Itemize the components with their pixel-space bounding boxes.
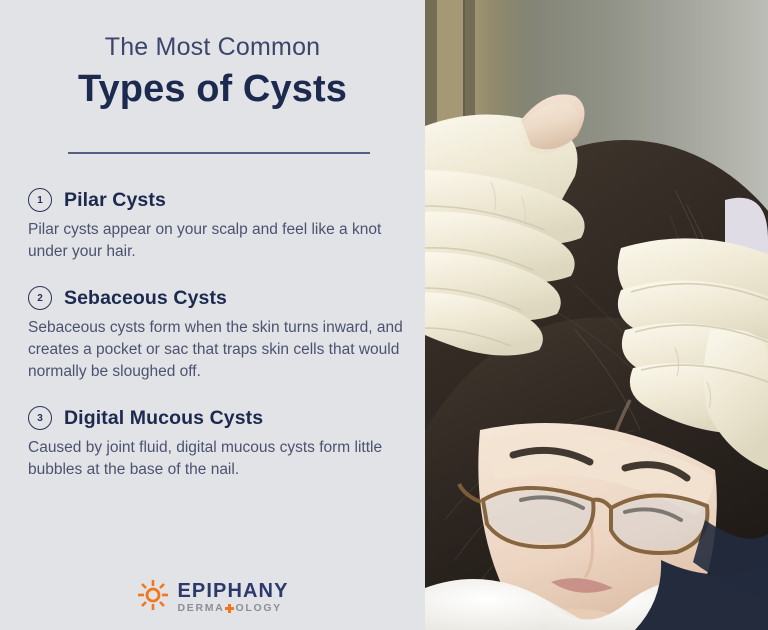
list-item-body: Pilar cysts appear on your scalp and fee… xyxy=(28,219,406,263)
list-item-title: Sebaceous Cysts xyxy=(64,287,227,310)
page-title-block: The Most Common Types of Cysts xyxy=(0,32,425,112)
list-item-header: 2 Sebaceous Cysts xyxy=(28,286,416,310)
list-item-number-badge: 3 xyxy=(28,406,52,430)
list-item-title: Pilar Cysts xyxy=(64,189,166,212)
list-item-body: Sebaceous cysts form when the skin turns… xyxy=(28,317,406,383)
logo-specialty-suffix: OLOGY xyxy=(235,603,281,614)
clinical-photo xyxy=(425,0,768,630)
logo-specialty: DERMA OLOGY xyxy=(177,603,288,614)
logo-brand-name: EPIPHANY xyxy=(177,581,288,601)
list-item-number-badge: 2 xyxy=(28,286,52,310)
brand-logo: EPIPHANY DERMA OLOGY xyxy=(0,579,425,616)
list-item-title: Digital Mucous Cysts xyxy=(64,407,263,430)
list-item: 1 Pilar Cysts Pilar cysts appear on your… xyxy=(28,188,416,263)
title-kicker: The Most Common xyxy=(0,32,425,62)
infographic-canvas: The Most Common Types of Cysts 1 Pilar C… xyxy=(0,0,768,630)
logo-specialty-prefix: DERMA xyxy=(177,603,224,614)
title-divider xyxy=(68,152,370,154)
list-item: 3 Digital Mucous Cysts Caused by joint f… xyxy=(28,406,416,481)
medical-cross-icon xyxy=(225,604,234,613)
logo-wordmark: EPIPHANY DERMA OLOGY xyxy=(177,581,288,614)
page-title: Types of Cysts xyxy=(0,68,425,112)
list-item: 2 Sebaceous Cysts Sebaceous cysts form w… xyxy=(28,286,416,383)
sun-icon xyxy=(136,579,170,616)
content-panel: The Most Common Types of Cysts 1 Pilar C… xyxy=(0,0,425,630)
list-item-number-badge: 1 xyxy=(28,188,52,212)
list-item-header: 1 Pilar Cysts xyxy=(28,188,416,212)
list-item-header: 3 Digital Mucous Cysts xyxy=(28,406,416,430)
cyst-type-list: 1 Pilar Cysts Pilar cysts appear on your… xyxy=(28,188,416,481)
list-item-body: Caused by joint fluid, digital mucous cy… xyxy=(28,437,406,481)
